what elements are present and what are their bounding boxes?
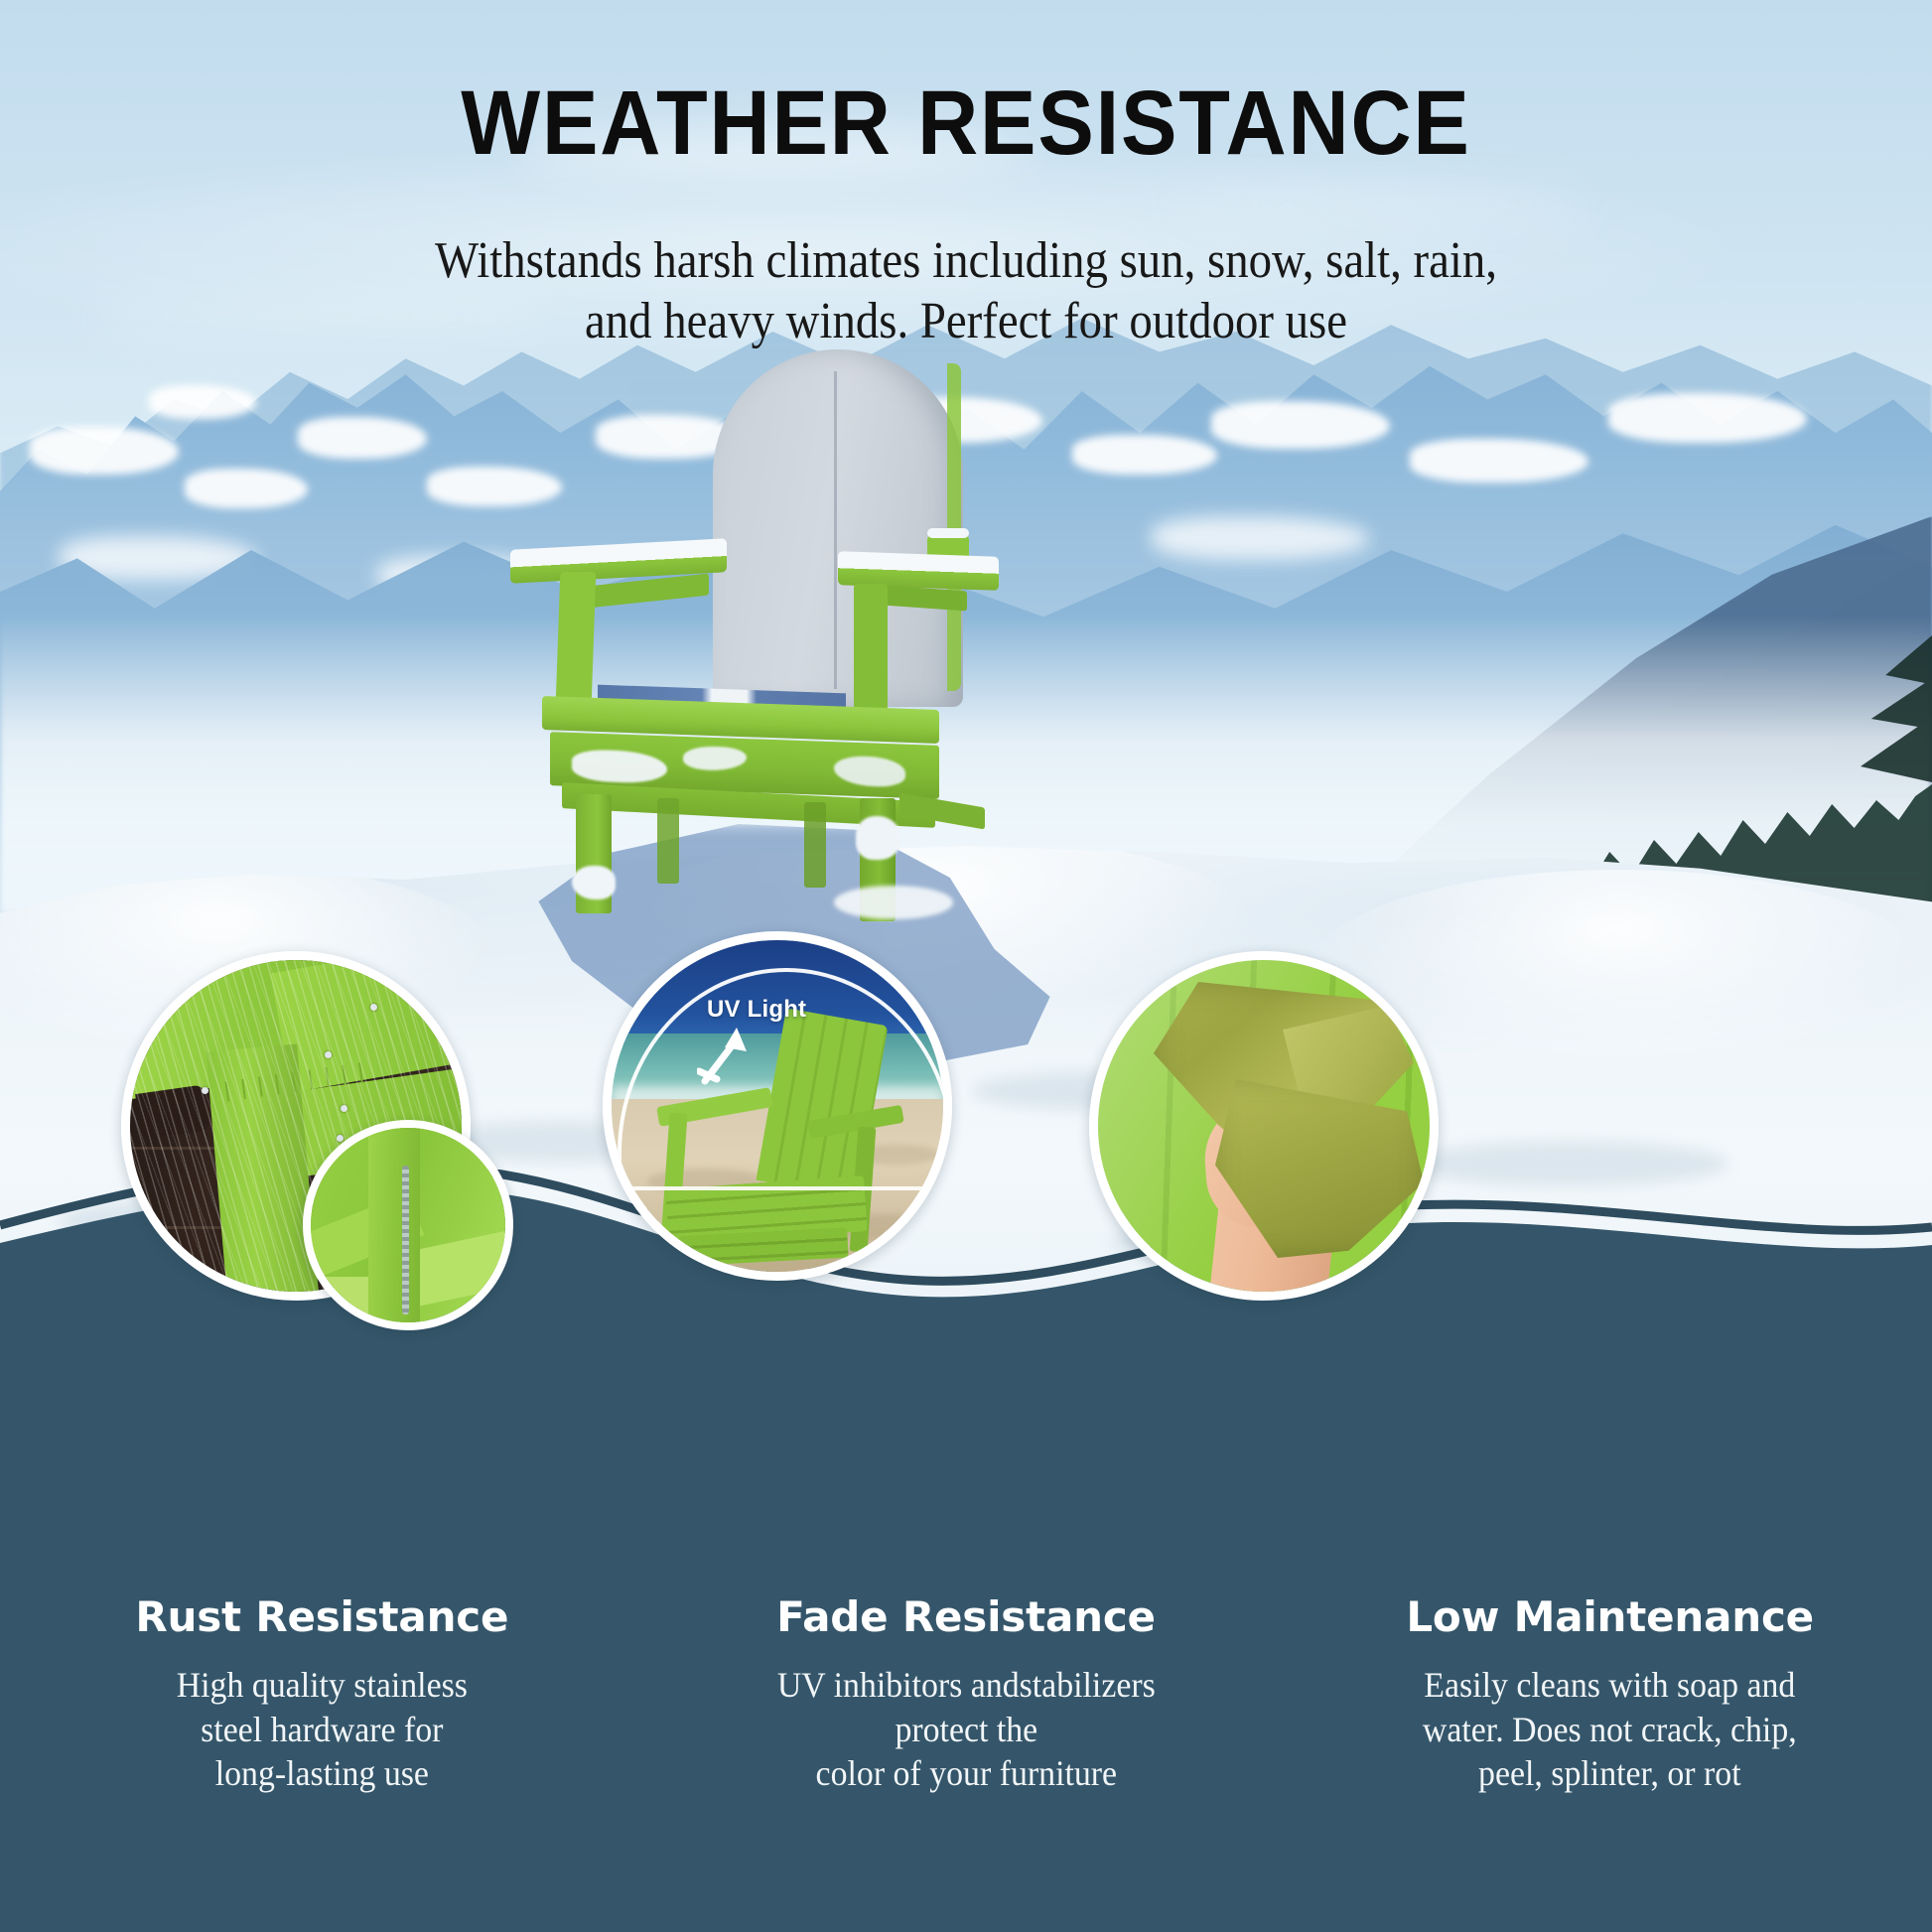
snow-patch — [30, 427, 179, 475]
feature-image-low-maintenance — [1089, 951, 1439, 1301]
snow-patch — [1608, 393, 1807, 443]
chair-front-leg-left — [556, 572, 597, 705]
feature-desc-line-3: long-lasting use — [48, 1751, 597, 1796]
feature-card-low-maintenance: Low Maintenance Easily cleans with soap … — [1288, 1592, 1932, 1796]
chair-backrest-seam — [834, 371, 837, 689]
feature-image-fade-resistance: UV Light — [603, 931, 952, 1281]
page-title: WEATHER RESISTANCE — [77, 77, 1855, 169]
feature-desc-line-1: Easily cleans with soap and — [1335, 1663, 1884, 1708]
feature-desc-line-3: color of your furniture — [691, 1751, 1240, 1796]
uv-light-label: UV Light — [707, 996, 806, 1024]
feature-card-rust-resistance: Rust Resistance High quality stainless s… — [0, 1592, 644, 1796]
subtitle-line-2: and heavy winds. Perfect for outdoor use — [96, 291, 1835, 351]
feature-cards: Rust Resistance High quality stainless s… — [0, 1592, 1932, 1796]
feature-desc-line-2: water. Does not crack, chip, — [1335, 1708, 1884, 1752]
subtitle-line-1: Withstands harsh climates including sun,… — [96, 230, 1835, 291]
snow-at-chair-base — [834, 886, 953, 919]
chair-rear-leg-right — [804, 802, 826, 888]
screw-icon — [1396, 1238, 1404, 1246]
feature-desc-line-1: UV inhibitors andstabilizers — [691, 1663, 1240, 1708]
snow-on-cup-holder — [927, 528, 969, 538]
snow-patch — [149, 385, 256, 419]
feature-desc-line-3: peel, splinter, or rot — [1335, 1751, 1884, 1796]
cloud-wisp — [1172, 185, 1588, 222]
snow-patch — [1072, 435, 1217, 475]
feature-image-rust-hardware-closeup — [303, 1120, 513, 1330]
feature-desc-line-2: steel hardware for — [48, 1708, 597, 1752]
feature-card-fade-resistance: Fade Resistance UV inhibitors andstabili… — [644, 1592, 1289, 1796]
snow-patch — [1410, 439, 1588, 483]
feature-desc-line-1: High quality stainless — [48, 1663, 597, 1708]
screw-icon — [1134, 1004, 1142, 1012]
uv-light-arrow-icon — [697, 1024, 757, 1085]
feature-description: High quality stainless steel hardware fo… — [48, 1663, 597, 1796]
snow-patch — [185, 469, 308, 508]
uv-dome-base — [621, 1186, 949, 1190]
chair-front-leg-right — [854, 584, 888, 711]
feature-description: Easily cleans with soap and water. Does … — [1335, 1663, 1884, 1796]
feature-desc-line-2: protect the — [691, 1708, 1240, 1752]
chair-backrest-edge — [947, 363, 961, 691]
feature-title: Low Maintenance — [1317, 1592, 1902, 1641]
page-subtitle: Withstands harsh climates including sun,… — [96, 230, 1835, 352]
chair-arm-brace-left — [588, 574, 709, 609]
feature-description: UV inhibitors andstabilizers protect the… — [691, 1663, 1240, 1796]
snow-patch — [1211, 401, 1390, 449]
snow-on-leg — [572, 866, 616, 899]
adirondack-chair-hero — [506, 349, 1062, 905]
snow-patch — [298, 417, 427, 459]
stainless-chain-icon — [402, 1166, 409, 1314]
snow-patch — [1152, 516, 1370, 560]
feature-title: Rust Resistance — [30, 1592, 615, 1641]
feature-title: Fade Resistance — [674, 1592, 1259, 1641]
snow-on-leg — [856, 816, 901, 860]
chair-backrest — [713, 349, 963, 707]
weather-resistance-infographic: UV Light WEATHER RESISTANCE Withstands h… — [0, 0, 1932, 1932]
chair-rear-leg-left — [657, 798, 679, 884]
